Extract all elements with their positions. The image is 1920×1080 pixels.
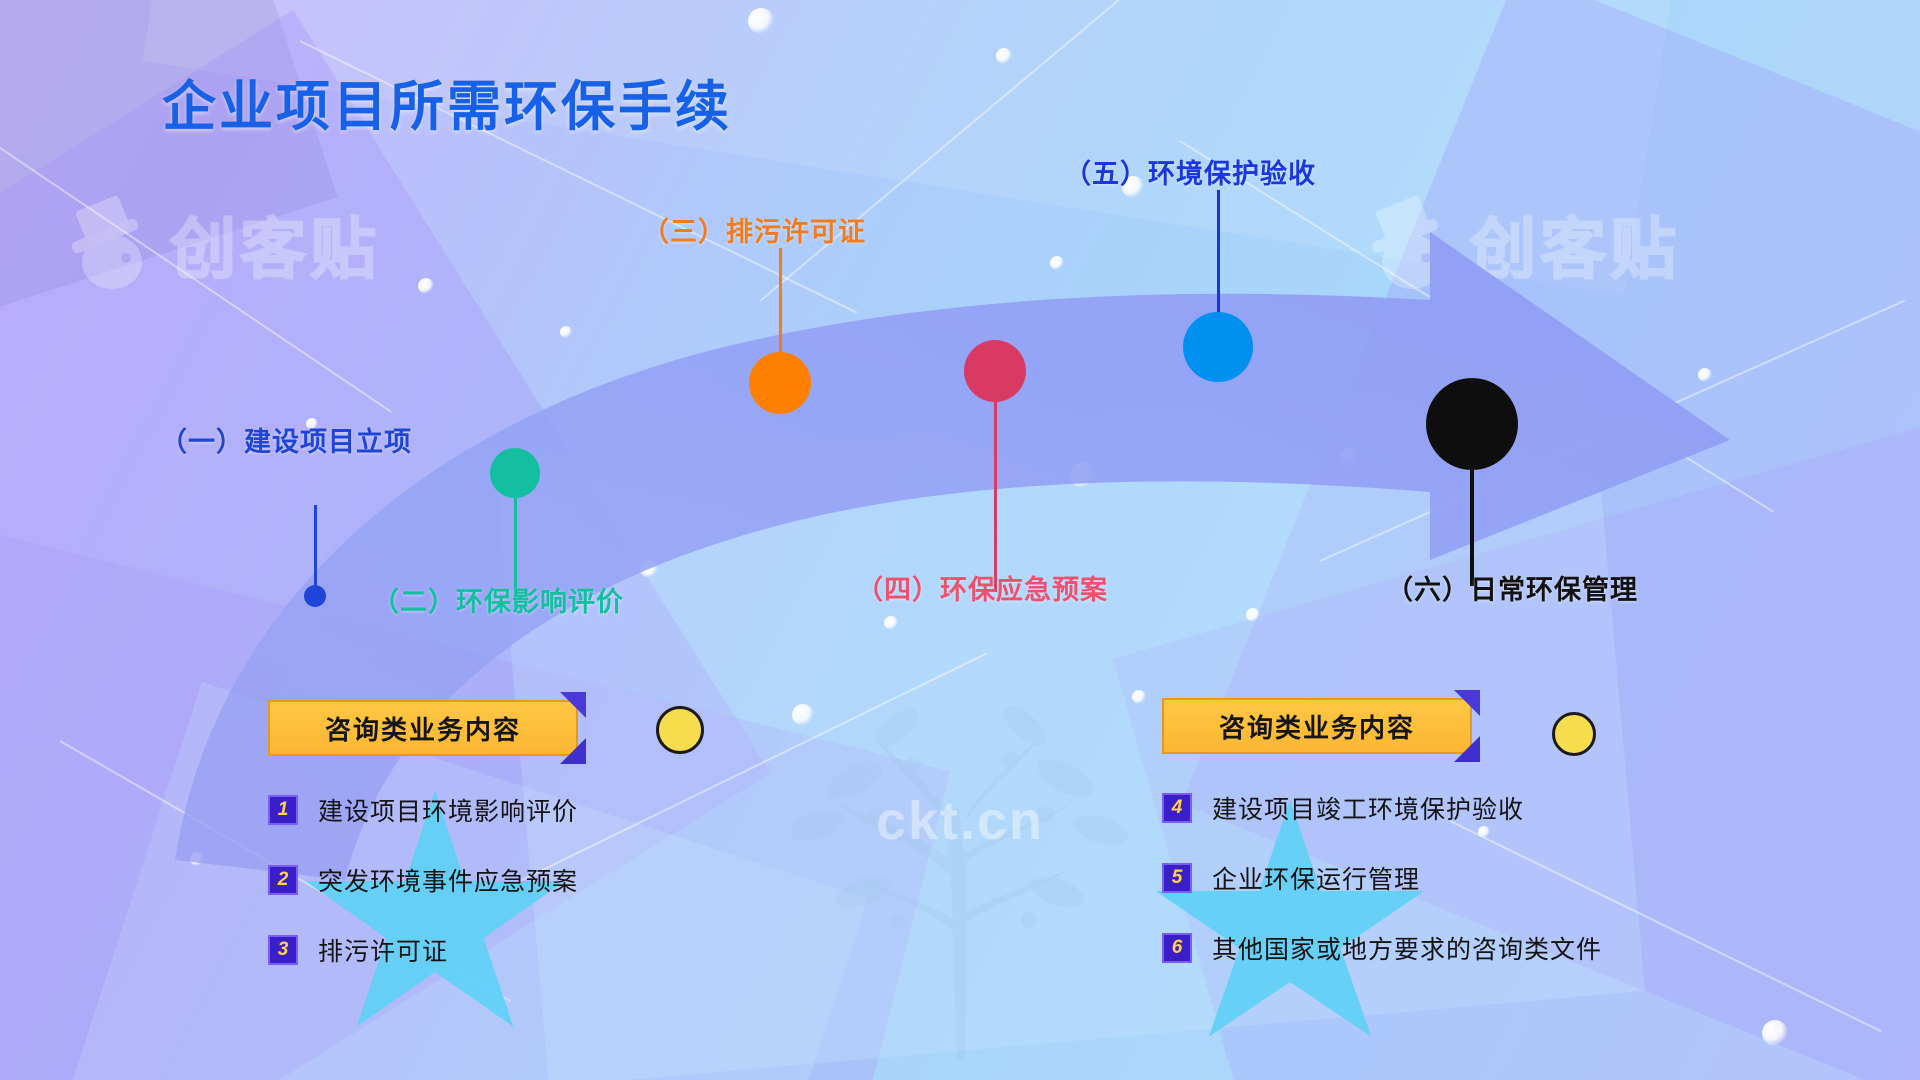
bg-streak — [0, 120, 392, 412]
list-item[interactable]: 3 排污许可证 — [268, 932, 578, 968]
list-item-label: 建设项目环境影响评价 — [318, 792, 578, 828]
list-item-label: 排污许可证 — [318, 932, 448, 968]
sparkle-dot — [884, 616, 898, 630]
list-item-label: 建设项目竣工环境保护验收 — [1212, 790, 1524, 826]
milestone-3-stem — [779, 248, 782, 362]
milestone-1[interactable] — [305, 505, 325, 605]
banner-fold-icon — [1454, 736, 1480, 762]
list-item-label: 企业环保运行管理 — [1212, 860, 1420, 896]
sparkle-dot — [1132, 690, 1146, 704]
milestone-4[interactable] — [985, 340, 1005, 590]
bg-streak — [759, 0, 1189, 302]
milestone-5-stem — [1217, 190, 1220, 324]
mascot-icon — [1370, 196, 1456, 292]
watermark-text: 创客贴 — [170, 196, 380, 292]
banner-fold-top-icon — [560, 692, 586, 718]
sparkle-dot — [1762, 1020, 1788, 1046]
list-item-number: 4 — [1162, 793, 1192, 823]
page-title: 企业项目所需环保手续 — [162, 62, 732, 141]
list-item-number: 5 — [1162, 863, 1192, 893]
sparkle-dot — [996, 48, 1012, 64]
sparkle-dot — [1698, 368, 1712, 382]
sparkle-dot — [1050, 256, 1064, 270]
banner-fold-top-icon — [1454, 690, 1480, 716]
sparkle-dot — [748, 8, 774, 34]
bg-streak — [520, 652, 988, 882]
milestone-2-dot — [490, 448, 540, 498]
bg-streak — [1320, 300, 1905, 562]
milestone-4-label: （四）环保应急预案 — [856, 568, 1108, 607]
list-item[interactable]: 1 建设项目环境影响评价 — [268, 792, 578, 828]
infographic-canvas: ckt.cn 创客贴 — [0, 0, 1920, 1080]
panel-left-banner[interactable]: 咨询类业务内容 — [268, 700, 578, 756]
milestone-3-dot — [749, 352, 811, 414]
milestone-6-label: （六）日常环保管理 — [1386, 568, 1638, 607]
list-item-number: 2 — [268, 865, 298, 895]
panel-left: 咨询类业务内容 1 建设项目环境影响评价 2 突发环境事件应急预案 3 排污许可… — [268, 700, 578, 1002]
sparkle-dot — [560, 326, 572, 338]
sparkle-dot — [640, 560, 658, 578]
panel-right: 咨询类业务内容 4 建设项目竣工环境保护验收 5 企业环保运行管理 6 其他国家… — [1162, 698, 1602, 1000]
sparkle-dot — [418, 278, 434, 294]
watermark-right: 创客贴 — [1370, 196, 1680, 292]
panel-left-banner-label: 咨询类业务内容 — [325, 710, 521, 747]
milestone-5[interactable] — [1208, 190, 1228, 380]
panel-right-banner[interactable]: 咨询类业务内容 — [1162, 698, 1472, 754]
sparkle-dot — [190, 852, 204, 866]
sparkle-dot — [792, 704, 814, 726]
milestone-3[interactable] — [770, 248, 790, 408]
sparkle-dot — [1246, 608, 1260, 622]
list-item-number: 6 — [1162, 933, 1192, 963]
list-item[interactable]: 6 其他国家或地方要求的咨询类文件 — [1162, 930, 1602, 966]
accent-circle-left — [656, 706, 704, 754]
sparkle-dot — [1340, 448, 1358, 466]
bg-facet-top-stripe — [143, 0, 1678, 295]
milestone-6-dot — [1426, 378, 1518, 470]
list-item[interactable]: 5 企业环保运行管理 — [1162, 860, 1602, 896]
milestone-5-label: （五）环境保护验收 — [1064, 152, 1316, 191]
list-item[interactable]: 4 建设项目竣工环境保护验收 — [1162, 790, 1602, 826]
milestone-4-stem — [994, 396, 997, 592]
watermark-text: 创客贴 — [1470, 196, 1680, 292]
milestone-1-stem — [314, 505, 317, 597]
panel-right-banner-label: 咨询类业务内容 — [1219, 708, 1415, 745]
list-item-label: 突发环境事件应急预案 — [318, 862, 578, 898]
panel-right-list: 4 建设项目竣工环境保护验收 5 企业环保运行管理 6 其他国家或地方要求的咨询… — [1162, 790, 1602, 966]
center-watermark: ckt.cn — [876, 790, 1044, 852]
list-item[interactable]: 2 突发环境事件应急预案 — [268, 862, 578, 898]
milestone-2-label: （二）环保影响评价 — [372, 580, 624, 619]
list-item-number: 1 — [268, 795, 298, 825]
olive-tree-illustration — [745, 630, 1175, 1060]
list-item-label: 其他国家或地方要求的咨询类文件 — [1212, 930, 1602, 966]
list-item-number: 3 — [268, 935, 298, 965]
milestone-1-label: （一）建设项目立项 — [160, 420, 412, 459]
banner-fold-icon — [560, 738, 586, 764]
panel-left-list: 1 建设项目环境影响评价 2 突发环境事件应急预案 3 排污许可证 — [268, 792, 578, 968]
milestone-5-dot — [1183, 312, 1253, 382]
milestone-4-dot — [964, 340, 1026, 402]
watermark-left: 创客贴 — [70, 196, 380, 292]
sparkle-dot — [1070, 462, 1096, 488]
milestone-1-dot — [304, 585, 326, 607]
milestone-3-label: （三）排污许可证 — [642, 210, 866, 249]
